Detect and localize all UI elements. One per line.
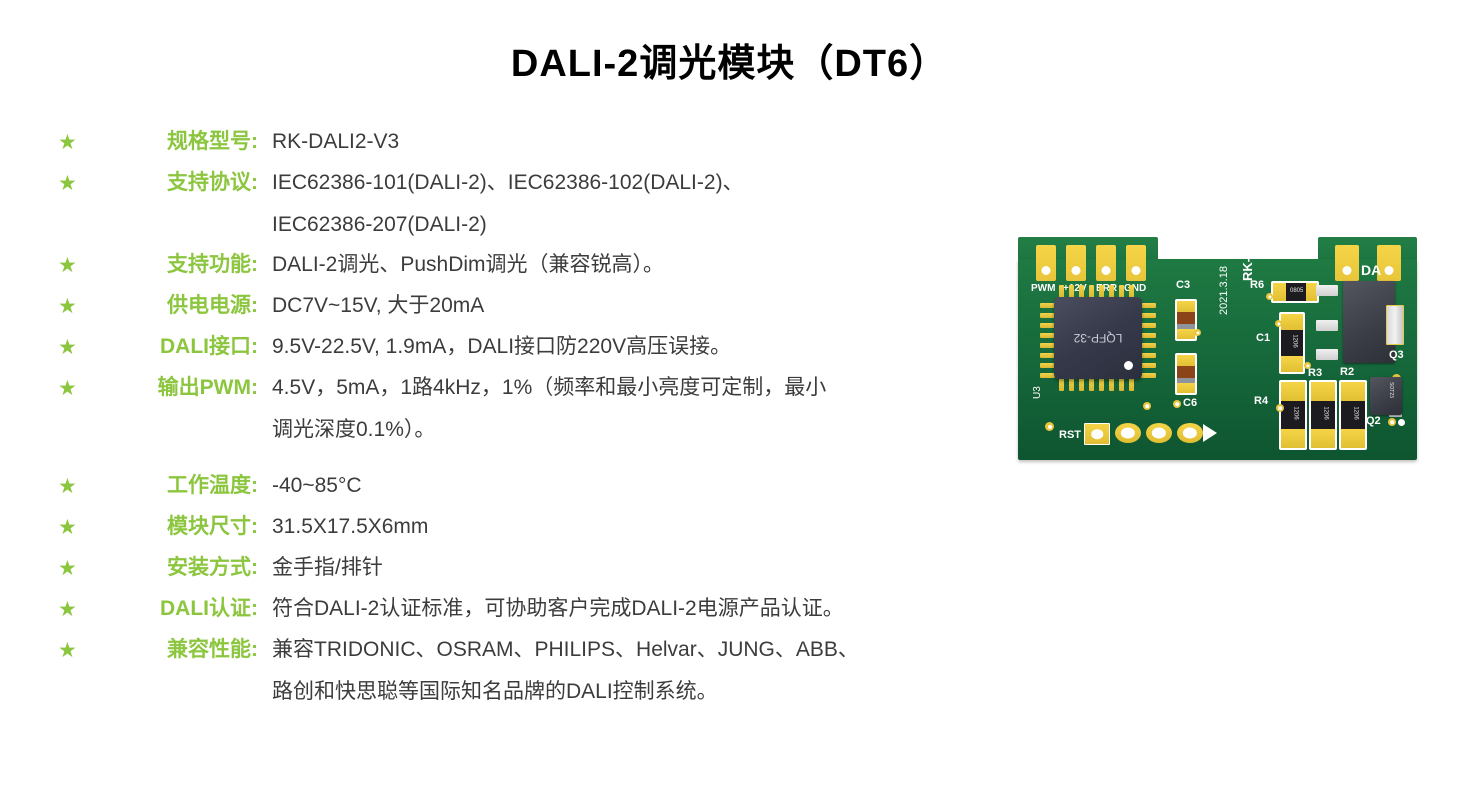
part-code: 1206 [1293, 406, 1299, 419]
spec-row: ★ 规格型号: RK-DALI2-V3 [58, 127, 998, 158]
spec-row: ★ 模块尺寸: 31.5X17.5X6mm [58, 512, 998, 543]
star-icon: ★ [58, 374, 84, 404]
mcu-chip: LQFP-32 [1054, 297, 1142, 379]
spec-row: ★ 支持功能: DALI-2调光、PushDim调光（兼容锐高）。 [58, 250, 998, 281]
pad-label-gnd: GND [1124, 283, 1146, 294]
spec-label: 规格型号: [84, 127, 262, 157]
spec-value-line: RK-DALI2-V3 [272, 127, 998, 157]
spec-value-line: 符合DALI-2认证标准，可协助客户完成DALI-2电源产品认证。 [272, 594, 998, 624]
component-r4: 1206 [1279, 380, 1307, 450]
chip-marking: LQFP-32 [1074, 331, 1123, 345]
component-r3: 1206 [1309, 380, 1337, 450]
pad-gnd [1126, 245, 1146, 281]
designator-r6: R6 [1250, 279, 1264, 291]
pad-hole [1042, 266, 1051, 275]
pad-round-2 [1146, 423, 1172, 443]
spec-label: 安装方式: [84, 553, 262, 583]
page-title: DALI-2调光模块（DT6） [0, 32, 1459, 87]
spec-value-line: -40~85°C [272, 471, 998, 501]
pad-round-1 [1115, 423, 1141, 443]
pad-da-1 [1335, 245, 1359, 281]
spec-label: 模块尺寸: [84, 512, 262, 542]
product-spec-page: DALI-2调光模块（DT6） ★ 规格型号: RK-DALI2-V3 ★ 支持… [0, 0, 1459, 792]
pad-q3-3 [1316, 349, 1338, 360]
pad-hole [1385, 266, 1394, 275]
silkscreen-model: RK-DALI2-V3 [1240, 200, 1255, 281]
pad-label-pwm: PWM [1031, 283, 1055, 294]
designator-q2: Q2 [1366, 415, 1381, 427]
via [1276, 404, 1284, 412]
silkscreen-date: 2021.3.18 [1218, 266, 1230, 315]
spec-row: ★ 支持协议: IEC62386-101(DALI-2)、IEC62386-10… [58, 168, 998, 240]
component-c6 [1175, 353, 1197, 395]
chip-pin1-dot [1124, 361, 1133, 370]
component-q2: SOT23 [1370, 377, 1402, 415]
spec-row: ★ 供电电源: DC7V~15V, 大于20mA [58, 291, 998, 322]
designator-r4: R4 [1254, 395, 1268, 407]
via [1388, 418, 1396, 426]
pad-label-da: DA [1361, 262, 1381, 278]
pad-hole [1132, 266, 1141, 275]
spec-label: 支持协议: [84, 168, 262, 198]
part-code: 1206 [1353, 406, 1359, 419]
part-code: SOT23 [1388, 382, 1394, 398]
via [1143, 402, 1151, 410]
via [1266, 293, 1273, 300]
spec-value: DC7V~15V, 大于20mA [262, 291, 998, 321]
designator-r3: R3 [1308, 367, 1322, 379]
star-icon: ★ [58, 513, 84, 543]
pcb-board-image: PWM +12V ERR GND DA [1018, 237, 1417, 460]
spec-label: 支持功能: [84, 250, 262, 280]
spec-value-line: 调光深度0.1%）。 [272, 415, 998, 445]
pad-err [1096, 245, 1116, 281]
spec-row: ★ 工作温度: -40~85°C [58, 471, 998, 502]
spec-value: 9.5V-22.5V, 1.9mA，DALI接口防220V高压误接。 [262, 332, 998, 362]
pad-12v [1066, 245, 1086, 281]
designator-u3: U3 [1032, 386, 1043, 399]
label-rst: RST [1059, 429, 1081, 441]
spec-value: 符合DALI-2认证标准，可协助客户完成DALI-2电源产品认证。 [262, 594, 998, 624]
star-icon: ★ [58, 554, 84, 584]
component-r6: 0805 [1271, 281, 1319, 303]
via [1194, 329, 1201, 336]
spec-value: IEC62386-101(DALI-2)、IEC62386-102(DALI-2… [262, 168, 998, 240]
pad-round-3 [1177, 423, 1203, 443]
spec-label: 兼容性能: [84, 635, 262, 665]
pad-pwm [1036, 245, 1056, 281]
list-spacer [58, 455, 998, 471]
polarity-marker-icon [1203, 424, 1217, 442]
component-r2: 1206 [1339, 380, 1367, 450]
spec-value-line: 4.5V，5mA，1路4kHz，1%（频率和最小亮度可定制，最小 [272, 373, 998, 403]
pad-rst [1084, 423, 1110, 445]
spec-row: ★ DALI认证: 符合DALI-2认证标准，可协助客户完成DALI-2电源产品… [58, 594, 998, 625]
spec-value-line: DC7V~15V, 大于20mA [272, 291, 998, 321]
pcb-substrate: PWM +12V ERR GND DA [1018, 237, 1417, 460]
spec-value: 31.5X17.5X6mm [262, 512, 998, 542]
pad-hole [1343, 266, 1352, 275]
spec-label: 供电电源: [84, 291, 262, 321]
star-icon: ★ [58, 169, 84, 199]
spec-value: DALI-2调光、PushDim调光（兼容锐高）。 [262, 250, 998, 280]
star-icon: ★ [58, 292, 84, 322]
spec-label: DALI认证: [84, 594, 262, 624]
designator-c6: C6 [1183, 397, 1197, 409]
star-icon: ★ [58, 333, 84, 363]
part-code: 0805 [1290, 288, 1303, 294]
spec-value: RK-DALI2-V3 [262, 127, 998, 157]
star-icon: ★ [58, 472, 84, 502]
specification-list: ★ 规格型号: RK-DALI2-V3 ★ 支持协议: IEC62386-101… [58, 127, 998, 717]
spec-value-line: IEC62386-207(DALI-2) [272, 210, 998, 240]
spec-row: ★ 安装方式: 金手指/排针 [58, 553, 998, 584]
spec-row: ★ 输出PWM: 4.5V，5mA，1路4kHz，1%（频率和最小亮度可定制，最… [58, 373, 998, 445]
pad-q3-1 [1316, 285, 1338, 296]
spec-row: ★ DALI接口: 9.5V-22.5V, 1.9mA，DALI接口防220V高… [58, 332, 998, 363]
via [1173, 400, 1181, 408]
spec-value-line: 金手指/排针 [272, 553, 998, 583]
designator-c1: C1 [1256, 332, 1270, 344]
spec-value: 4.5V，5mA，1路4kHz，1%（频率和最小亮度可定制，最小 调光深度0.1… [262, 373, 998, 445]
spec-label: DALI接口: [84, 332, 262, 362]
spec-label: 输出PWM: [84, 373, 262, 403]
spec-label: 工作温度: [84, 471, 262, 501]
star-icon: ★ [58, 595, 84, 625]
designator-q3: Q3 [1389, 349, 1404, 361]
designator-c3: C3 [1176, 279, 1190, 291]
via [1275, 320, 1282, 327]
designator-r2: R2 [1340, 366, 1354, 378]
component-c3 [1175, 299, 1197, 341]
component-c1: 1206 [1279, 312, 1305, 374]
star-icon: ★ [58, 128, 84, 158]
part-code: 1206 [1323, 406, 1329, 419]
spec-value-line: 31.5X17.5X6mm [272, 512, 998, 542]
spec-value-line: DALI-2调光、PushDim调光（兼容锐高）。 [272, 250, 998, 280]
pad-q3-2 [1316, 320, 1338, 331]
star-icon: ★ [58, 251, 84, 281]
spec-value-line: 兼容TRIDONIC、OSRAM、PHILIPS、Helvar、JUNG、ABB… [272, 635, 998, 665]
star-icon: ★ [58, 636, 84, 666]
pad-hole [1072, 266, 1081, 275]
q3-tab [1386, 305, 1404, 345]
spec-value-line: 9.5V-22.5V, 1.9mA，DALI接口防220V高压误接。 [272, 332, 998, 362]
pad-hole [1102, 266, 1111, 275]
via [1398, 419, 1405, 426]
spec-value: -40~85°C [262, 471, 998, 501]
spec-value-line: IEC62386-101(DALI-2)、IEC62386-102(DALI-2… [272, 168, 998, 198]
part-code: 1206 [1292, 334, 1298, 347]
spec-value: 兼容TRIDONIC、OSRAM、PHILIPS、Helvar、JUNG、ABB… [262, 635, 998, 707]
via [1045, 422, 1054, 431]
spec-row: ★ 兼容性能: 兼容TRIDONIC、OSRAM、PHILIPS、Helvar、… [58, 635, 998, 707]
spec-value-line: 路创和快思聪等国际知名品牌的DALI控制系统。 [272, 677, 998, 707]
spec-value: 金手指/排针 [262, 553, 998, 583]
